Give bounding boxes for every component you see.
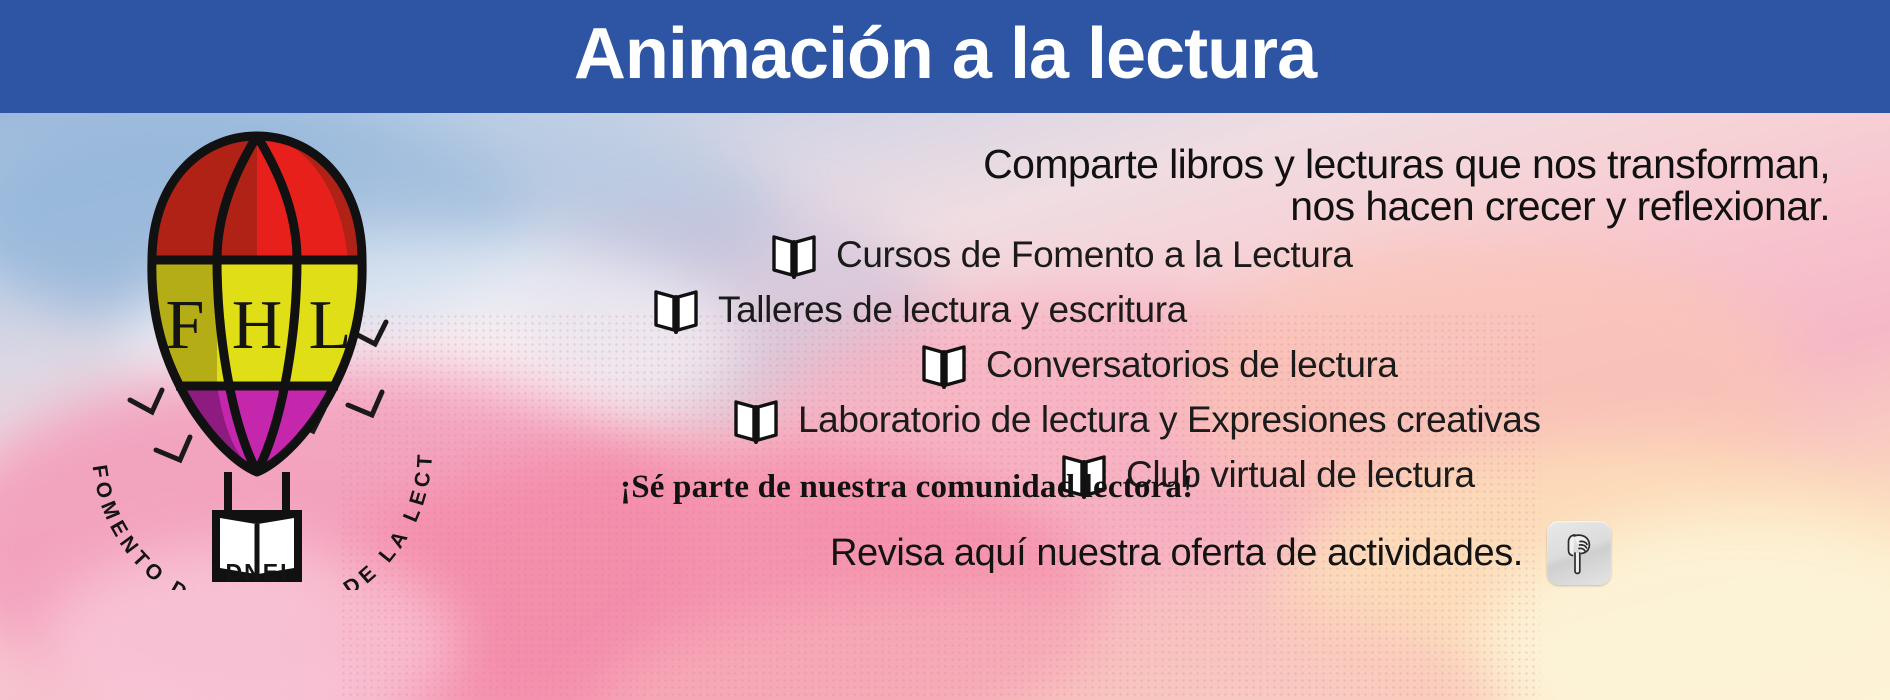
pointing-hand-down-icon: [1562, 531, 1596, 575]
logo-acronym: DNEI: [226, 559, 289, 585]
header-bar: Animación a la lectura: [0, 0, 1890, 113]
balloon-letter-h: H: [232, 287, 283, 364]
list-item[interactable]: Talleres de lectura y escritura: [652, 286, 1187, 334]
cta-row: Revisa aquí nuestra oferta de actividade…: [830, 521, 1611, 585]
list-item-label: Conversatorios de lectura: [986, 345, 1398, 385]
animacion-a-la-lectura-banner: Animación a la lectura FOMENTO DEL HÁBIT…: [0, 0, 1890, 700]
tagline-line-2: nos hacen crecer y reflexionar.: [630, 179, 1830, 233]
open-book-icon: [652, 286, 700, 334]
pointing-hand-down-button[interactable]: [1547, 521, 1611, 585]
open-book-icon: [732, 396, 780, 444]
balloon-letter-l: L: [309, 287, 352, 364]
list-item[interactable]: Laboratorio de lectura y Expresiones cre…: [732, 396, 1541, 444]
cta-text: Revisa aquí nuestra oferta de actividade…: [830, 532, 1523, 575]
content-column: Comparte libros y lecturas que nos trans…: [620, 113, 1890, 700]
list-item-label: Cursos de Fomento a la Lectura: [836, 235, 1353, 275]
list-item-label: Talleres de lectura y escritura: [718, 290, 1187, 330]
list-item[interactable]: Cursos de Fomento a la Lectura: [770, 231, 1353, 279]
balloon-letter-f: F: [166, 287, 205, 364]
open-book-icon: [770, 231, 818, 279]
page-title: Animación a la lectura: [0, 0, 1890, 113]
list-item[interactable]: Conversatorios de lectura: [920, 341, 1398, 389]
open-book-icon: [920, 341, 968, 389]
list-item-label: Laboratorio de lectura y Expresiones cre…: [798, 400, 1541, 440]
fhl-balloon-logo: FOMENTO DEL HÁBITO DE LA LECTURA: [52, 120, 472, 590]
cta-headline: ¡Sé parte de nuestra comunidad lectora!: [620, 469, 1193, 506]
